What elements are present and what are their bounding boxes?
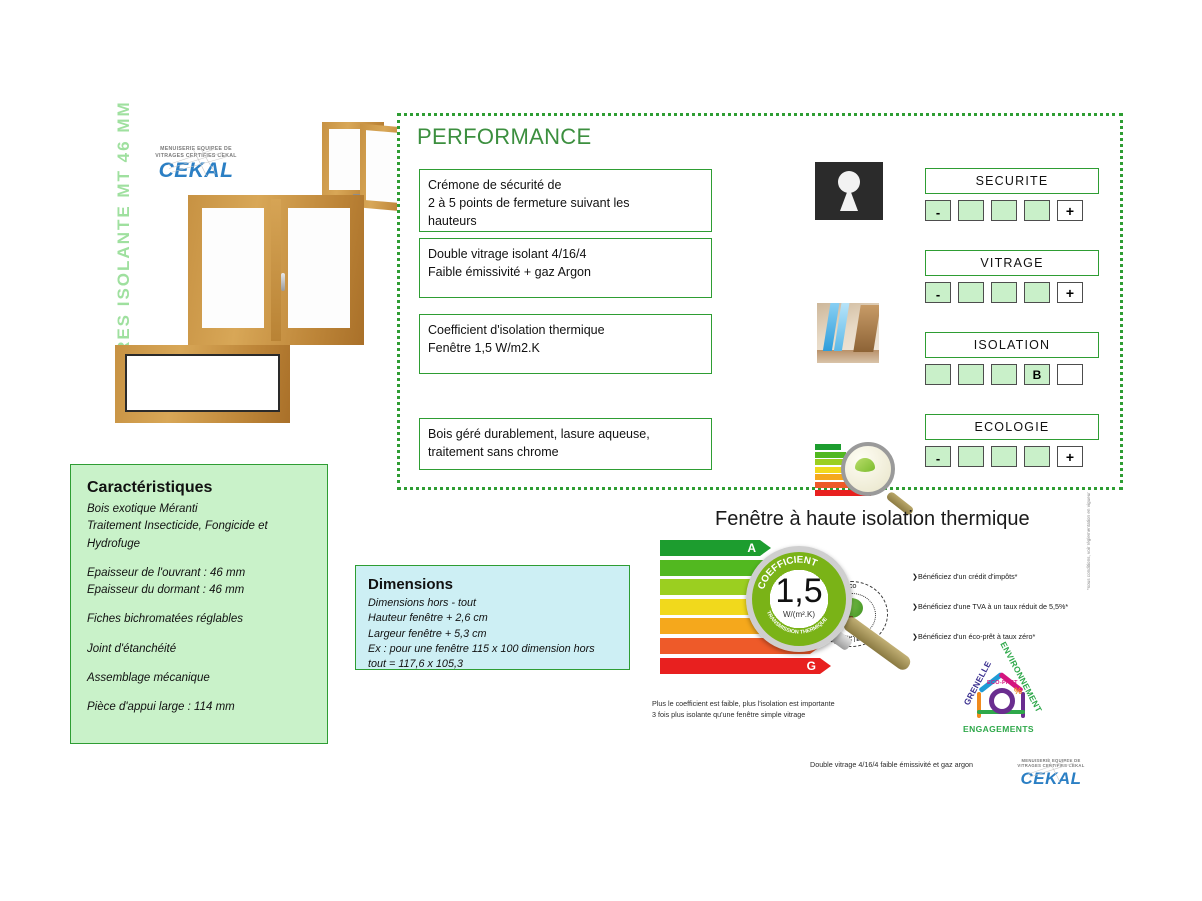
thermal-title: Fenêtre à haute isolation thermique xyxy=(715,508,1030,531)
window-transom-pane xyxy=(125,354,280,412)
grenelle-zero-icon xyxy=(989,688,1015,714)
carac-line: Traitement Insecticide, Fongicide et xyxy=(87,518,311,535)
rating-cell[interactable] xyxy=(991,364,1017,385)
rating-cell-grade-b[interactable]: B xyxy=(1024,364,1050,385)
perf-line: 2 à 5 points de fermeture suivant les xyxy=(428,194,703,212)
window-pane-right xyxy=(288,208,350,328)
dimensions-title: Dimensions xyxy=(368,576,617,593)
benefit-item: ❯Bénéficiez d'une TVA à un taux réduit d… xyxy=(912,602,1068,611)
rating-cell[interactable] xyxy=(925,364,951,385)
magnifier-coefficient-badge: COEFFICIENT TRANSMISSION THERMIQUE 1,5 W… xyxy=(746,546,852,652)
cekal-wordmark: CEKAL xyxy=(1008,770,1094,787)
performance-box-ecology: Bois géré durablement, lasure aqueuse, t… xyxy=(419,418,712,470)
cekal-wordmark: CEKAL xyxy=(143,160,249,181)
rating-label-securite: SECURITE xyxy=(925,168,1099,194)
caracteristiques-card: Caractéristiques Bois exotique Méranti T… xyxy=(70,464,328,744)
energy-caption-line2: 3 fois plus isolante qu'une fenêtre simp… xyxy=(652,709,835,720)
perf-line: traitement sans chrome xyxy=(428,443,703,461)
rating-cell[interactable] xyxy=(958,364,984,385)
rating-cell[interactable] xyxy=(991,200,1017,221)
side-note: *sous conditions, voir réglementation en… xyxy=(1086,492,1091,590)
perf-line: Double vitrage isolant 4/16/4 xyxy=(428,245,703,263)
rating-cell-plus[interactable]: + xyxy=(1057,200,1083,221)
rating-cell[interactable] xyxy=(1024,200,1050,221)
rating-row-vitrage: VITRAGE - + xyxy=(925,250,1099,303)
performance-box-insulation: Coefficient d'isolation thermique Fenêtr… xyxy=(419,314,712,374)
window-transom xyxy=(115,345,290,423)
rating-row-ecologie: ECOLOGIE - + xyxy=(925,414,1099,467)
dimensions-line: Ex : pour une fenêtre 115 x 100 dimensio… xyxy=(368,642,617,657)
energy-magnifier-icon xyxy=(815,444,893,502)
energy-bar-a: A xyxy=(660,540,760,556)
rating-cell[interactable] xyxy=(958,282,984,303)
rating-label-ecologie: ECOLOGIE xyxy=(925,414,1099,440)
cekal-logo-top: MENUISERIE EQUIPEE DE VITRAGES CERTIFIES… xyxy=(143,146,249,181)
rating-cell[interactable] xyxy=(1024,446,1050,467)
benefit-item: ❯Bénéficiez d'un éco-prêt à taux zéro* xyxy=(912,632,1068,641)
carac-line: Assemblage mécanique xyxy=(87,670,311,687)
performance-title: PERFORMANCE xyxy=(417,124,591,150)
window-main-frame xyxy=(188,195,364,345)
energy-caption: Plus le coefficient est faible, plus l'i… xyxy=(652,698,835,720)
window-pane-left xyxy=(202,208,264,328)
perf-line: Coefficient d'isolation thermique xyxy=(428,321,703,339)
rating-cell[interactable] xyxy=(958,200,984,221)
rating-cells-ecologie: - + xyxy=(925,446,1099,467)
rating-cells-vitrage: - + xyxy=(925,282,1099,303)
carac-line: Fiches bichromatées réglables xyxy=(87,611,311,628)
slide-canvas: FENETRES ISOLANTE MT 46 MM MENUISERIE EQ… xyxy=(0,0,1202,901)
grenelle-house-icon: ECO-PRET % xyxy=(975,670,1027,710)
rating-cell[interactable] xyxy=(958,446,984,467)
grenelle-percent: % xyxy=(1014,686,1022,696)
window-handle-icon xyxy=(281,273,285,291)
footer-note: Double vitrage 4/16/4 faible émissivité … xyxy=(810,760,973,769)
coefficient-value: 1,5 xyxy=(752,574,846,608)
rating-cells-isolation: B xyxy=(925,364,1099,385)
glazing-icon xyxy=(817,303,879,363)
rating-cells-securite: - + xyxy=(925,200,1099,221)
rating-cell-minus[interactable]: - xyxy=(925,200,951,221)
energy-label-chart: A F G xyxy=(660,540,875,700)
perf-line: hauteurs xyxy=(428,212,703,230)
rating-cell[interactable] xyxy=(991,446,1017,467)
carac-line: Epaisseur de l'ouvrant : 46 mm xyxy=(87,565,311,582)
rating-cell-plus[interactable]: + xyxy=(1057,282,1083,303)
rating-cell-minus[interactable]: - xyxy=(925,282,951,303)
rating-label-isolation: ISOLATION xyxy=(925,332,1099,358)
cekal-logo-bottom: MENUISERIE EQUIPEE DE VITRAGES CERTIFIES… xyxy=(1008,758,1094,787)
rating-cell-plus[interactable]: + xyxy=(1057,446,1083,467)
dimensions-line: tout = 117,6 x 105,3 xyxy=(368,657,617,672)
carac-line: Pièce d'appui large : 114 mm xyxy=(87,699,311,716)
rating-row-isolation: ISOLATION B xyxy=(925,332,1099,385)
perf-line: Fenêtre 1,5 W/m2.K xyxy=(428,339,703,357)
dimensions-card: Dimensions Dimensions hors - tout Hauteu… xyxy=(355,565,630,670)
coefficient-unit: W/(m².K) xyxy=(752,610,846,619)
benefit-item: ❯Bénéficiez d'un crédit d'impôts* xyxy=(912,572,1068,581)
caracteristiques-title: Caractéristiques xyxy=(87,479,311,497)
grenelle-word-bottom: ENGAGEMENTS xyxy=(963,724,1034,734)
energy-caption-line1: Plus le coefficient est faible, plus l'i… xyxy=(652,698,835,709)
dimensions-line: Largeur fenêtre + 5,3 cm xyxy=(368,627,617,642)
dimensions-line: Hauteur fenêtre + 2,6 cm xyxy=(368,611,617,626)
rating-cell[interactable] xyxy=(1057,364,1083,385)
performance-box-security: Crémone de sécurité de 2 à 5 points de f… xyxy=(419,169,712,232)
keyhole-icon xyxy=(815,162,883,220)
dimensions-line: Dimensions hors - tout xyxy=(368,596,617,611)
rating-row-securite: SECURITE - + xyxy=(925,168,1099,221)
rating-cell[interactable] xyxy=(1024,282,1050,303)
performance-box-glazing: Double vitrage isolant 4/16/4 Faible émi… xyxy=(419,238,712,298)
carac-line: Hydrofuge xyxy=(87,536,311,553)
perf-line: Bois géré durablement, lasure aqueuse, xyxy=(428,425,703,443)
grenelle-environnement-logo: GRENELLE ENVIRONNEMENT ECO-PRET % ENGAGE… xyxy=(955,648,1047,732)
carac-line: Epaisseur du dormant : 46 mm xyxy=(87,582,311,599)
carac-line: Bois exotique Méranti xyxy=(87,501,311,518)
perf-line: Crémone de sécurité de xyxy=(428,176,703,194)
energy-bar-g: G xyxy=(660,658,820,674)
rating-cell[interactable] xyxy=(991,282,1017,303)
window-center-mullion xyxy=(271,199,281,341)
rating-label-vitrage: VITRAGE xyxy=(925,250,1099,276)
rating-cell-minus[interactable]: - xyxy=(925,446,951,467)
perf-line: Faible émissivité + gaz Argon xyxy=(428,263,703,281)
cekal-subtitle-line2: VITRAGES CERTIFIES CEKAL xyxy=(1008,763,1094,768)
carac-line: Joint d'étanchéité xyxy=(87,641,311,658)
